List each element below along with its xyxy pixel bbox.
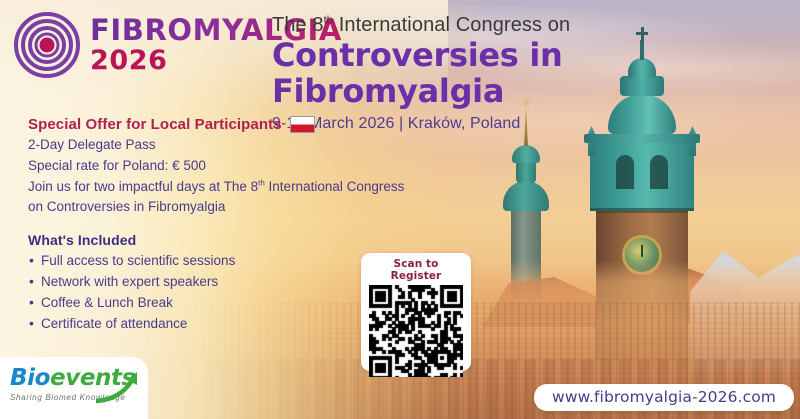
offer-pass-type: 2-Day Delegate Pass <box>28 136 448 154</box>
concentric-target-icon <box>14 12 80 78</box>
special-offer-heading: Special Offer for Local Participants <box>28 116 448 133</box>
congress-prefix: The 8th International Congress on <box>272 14 792 37</box>
header-block: The 8th International Congress on Contro… <box>272 14 792 133</box>
whats-included-list: Full access to scientific sessions Netwo… <box>28 251 358 335</box>
list-item: Certificate of attendance <box>28 314 358 335</box>
whats-included-block: What's Included Full access to scientifi… <box>28 232 358 335</box>
sponsor-logo-panel: Bioevents Sharing Biomed Knowledge <box>0 357 148 419</box>
qr-code-icon[interactable] <box>369 285 463 377</box>
list-item: Coffee & Lunch Break <box>28 293 358 314</box>
special-offer-heading-text: Special Offer for Local Participants <box>28 116 282 133</box>
list-item: Network with expert speakers <box>28 272 358 293</box>
offer-invite-a: Join us for two impactful days at The 8 <box>28 179 258 194</box>
congress-prefix-rest: International Congress on <box>333 14 570 36</box>
offer-invite-line-2: on Controversies in Fibromyalgia <box>28 198 448 216</box>
website-url[interactable]: www.fibromyalgia-2026.com <box>534 384 794 411</box>
offer-invite-b: International Congress <box>265 179 405 194</box>
congress-ordinal-suffix: th <box>324 14 333 26</box>
qr-register-card[interactable]: Scan to Register <box>361 253 471 371</box>
sponsor-name-part1: Bio <box>10 365 50 391</box>
conference-banner: ✳ FIBROMYALGIA 2026 <box>0 0 800 419</box>
offer-invite-ordinal: th <box>258 178 265 187</box>
offer-invite-line-1: Join us for two impactful days at The 8t… <box>28 178 448 196</box>
congress-prefix-text: The 8 <box>272 14 324 36</box>
offer-price: Special rate for Poland: € 500 <box>28 157 448 175</box>
special-offer-block: Special Offer for Local Participants 2-D… <box>28 116 448 216</box>
poland-flag-icon <box>290 116 315 133</box>
green-arrow-swoosh-icon <box>96 370 142 404</box>
whats-included-heading: What's Included <box>28 232 358 248</box>
qr-label: Scan to Register <box>367 258 465 282</box>
page-title: Controversies in Fibromyalgia <box>272 38 792 110</box>
list-item: Full access to scientific sessions <box>28 251 358 272</box>
